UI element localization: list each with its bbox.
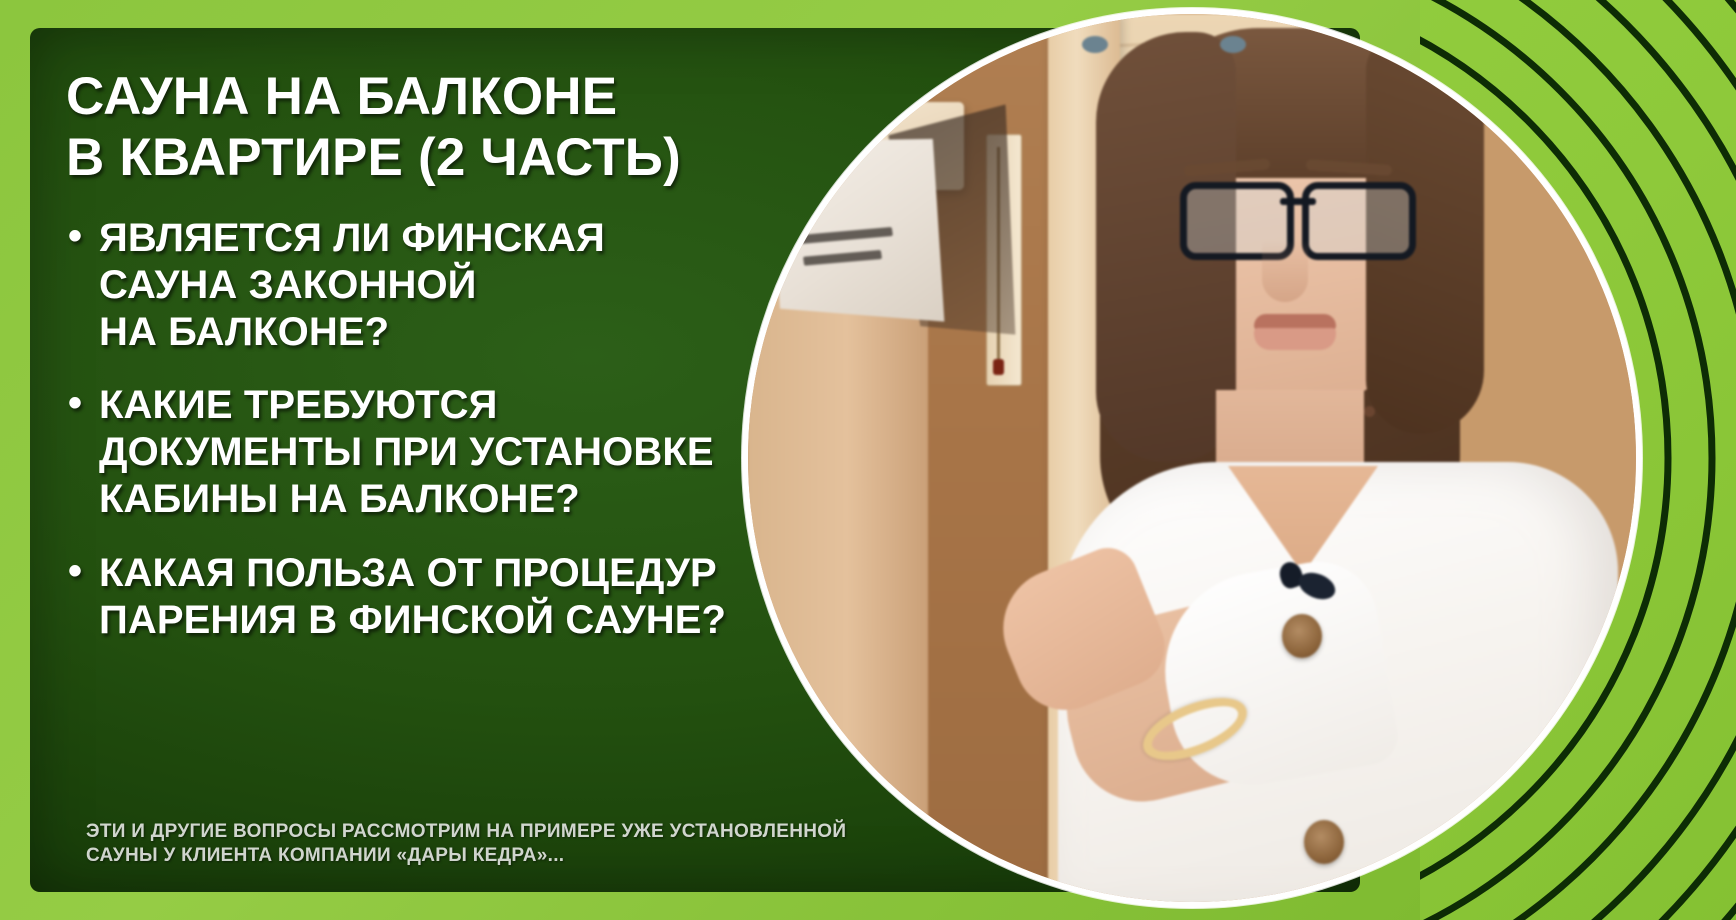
- presenter-photo: [748, 14, 1636, 902]
- footnote-text: ЭТИ И ДРУГИЕ ВОПРОСЫ РАССМОТРИМ НА ПРИМЕ…: [86, 820, 926, 869]
- photo-ring: [742, 8, 1642, 908]
- list-item: КАКИЕ ТРЕБУЮТСЯ ДОКУМЕНТЫ ПРИ УСТАНОВКЕ …: [66, 382, 826, 522]
- necklace-pendant: [1276, 562, 1336, 604]
- blouse-button: [1304, 820, 1344, 864]
- question-list: ЯВЛЯЕТСЯ ЛИ ФИНСКАЯ САУНА ЗАКОННОЙ НА БА…: [66, 215, 826, 643]
- thumbnail-canvas: САУНА НА БАЛКОНЕ В КВАРТИРЕ (2 ЧАСТЬ) ЯВ…: [0, 0, 1736, 920]
- text-block: САУНА НА БАЛКОНЕ В КВАРТИРЕ (2 ЧАСТЬ) ЯВ…: [66, 66, 826, 670]
- eyeglasses: [1180, 182, 1416, 248]
- page-title: САУНА НА БАЛКОНЕ В КВАРТИРЕ (2 ЧАСТЬ): [66, 66, 826, 189]
- presenter-figure: [1048, 14, 1636, 902]
- list-item: ЯВЛЯЕТСЯ ЛИ ФИНСКАЯ САУНА ЗАКОННОЙ НА БА…: [66, 215, 826, 355]
- blouse-button: [1282, 614, 1322, 658]
- list-item: КАКАЯ ПОЛЬЗА ОТ ПРОЦЕДУР ПАРЕНИЯ В ФИНСК…: [66, 550, 826, 644]
